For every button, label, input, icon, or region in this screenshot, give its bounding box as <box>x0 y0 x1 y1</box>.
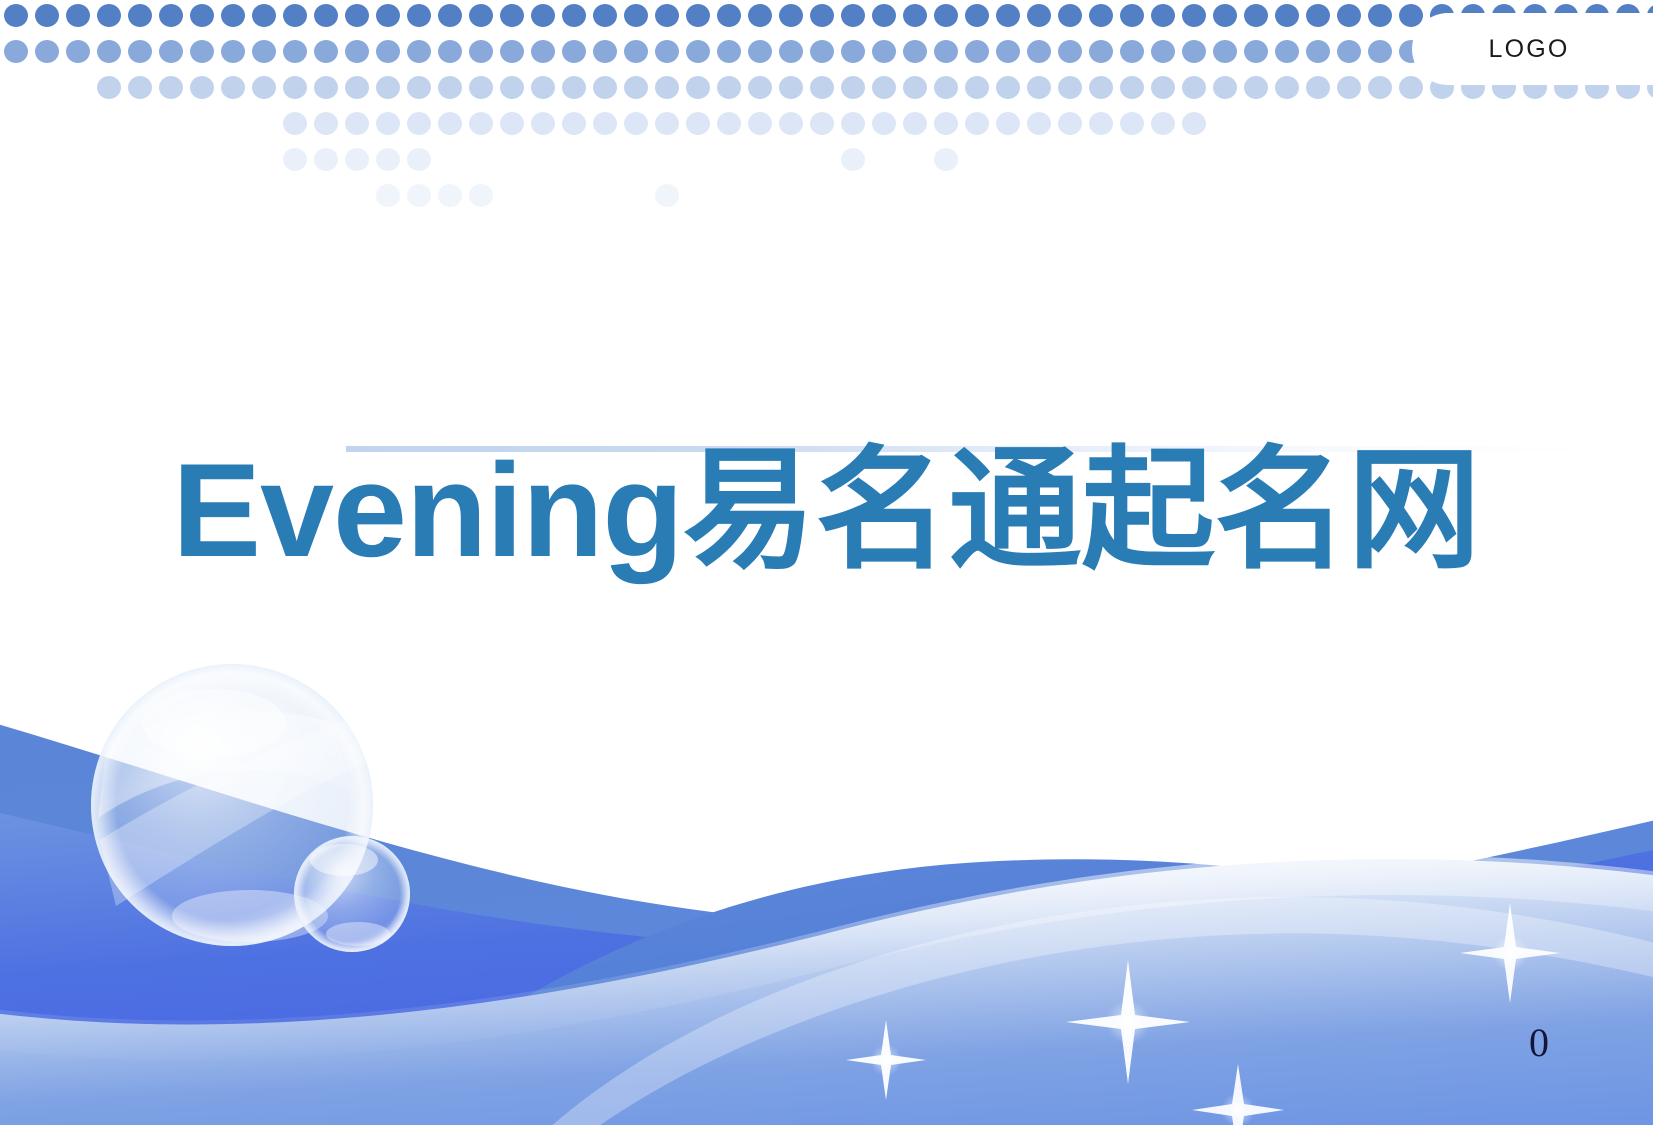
pattern-dot <box>66 40 90 63</box>
pattern-dot <box>779 76 803 99</box>
pattern-dot <box>624 76 648 99</box>
pattern-dot <box>345 40 369 63</box>
pattern-dot <box>1089 76 1113 99</box>
pattern-dot <box>407 148 431 171</box>
wave-deep <box>0 806 1653 1125</box>
pattern-dot <box>407 40 431 63</box>
pattern-dot <box>779 40 803 63</box>
sparkle-stars <box>846 903 1560 1125</box>
pattern-dot <box>407 112 431 135</box>
pattern-dot <box>159 4 183 27</box>
pattern-dot <box>1027 40 1051 63</box>
pattern-dot <box>1337 40 1361 63</box>
sparkle-star <box>1460 903 1560 1003</box>
pattern-dot <box>1244 4 1268 27</box>
pattern-dot <box>562 40 586 63</box>
pattern-dot <box>190 76 214 99</box>
sparkle-star <box>846 1020 926 1100</box>
pattern-dot <box>779 4 803 27</box>
wave-fold-highlight <box>520 897 1653 1125</box>
pattern-dot <box>686 76 710 99</box>
wave-sheen <box>0 855 1653 1061</box>
pattern-dot <box>438 4 462 27</box>
pattern-dot <box>655 76 679 99</box>
pattern-dot <box>407 4 431 27</box>
pattern-dot <box>841 4 865 27</box>
sparkle-star <box>1192 1064 1284 1125</box>
pattern-dot <box>965 76 989 99</box>
pattern-dot <box>996 112 1020 135</box>
pattern-dot <box>903 76 927 99</box>
pattern-dot <box>345 148 369 171</box>
pattern-dot <box>841 112 865 135</box>
pattern-dot <box>562 76 586 99</box>
pattern-dot <box>1120 40 1144 63</box>
pattern-dot <box>1306 76 1330 99</box>
pattern-dot <box>376 76 400 99</box>
pattern-dot <box>748 76 772 99</box>
pattern-dot <box>376 148 400 171</box>
pattern-dot <box>655 184 679 207</box>
pattern-dot <box>593 4 617 27</box>
pattern-dot <box>252 76 276 99</box>
pattern-dot <box>190 40 214 63</box>
wave-foreground-left <box>0 859 1653 1125</box>
pattern-dot <box>1058 40 1082 63</box>
wave-back <box>0 716 1653 1125</box>
pattern-dot <box>469 184 493 207</box>
pattern-dot <box>841 148 865 171</box>
pattern-dot <box>1275 4 1299 27</box>
small-bubble-bottom-glow <box>326 922 390 946</box>
pattern-dot <box>1120 112 1144 135</box>
pattern-dot <box>872 40 896 63</box>
pattern-dot <box>283 148 307 171</box>
pattern-dot <box>686 112 710 135</box>
pattern-dot <box>469 112 493 135</box>
pattern-dot <box>810 76 834 99</box>
small-bubble-top-highlight <box>310 844 378 876</box>
pattern-dot <box>717 4 741 27</box>
pattern-dot <box>748 4 772 27</box>
pattern-dot <box>314 4 338 27</box>
pattern-dot <box>128 76 152 99</box>
large-glass-bubble <box>91 664 373 946</box>
pattern-dot <box>686 4 710 27</box>
large-bubble-diagonal-sheen <box>100 712 372 906</box>
pattern-dot <box>934 76 958 99</box>
pattern-dot <box>965 112 989 135</box>
pattern-dot <box>4 4 28 27</box>
presentation-slide: LOGO Evening易名通起名网 0 <box>0 0 1653 1125</box>
pattern-dot <box>531 40 555 63</box>
page-number: 0 <box>1529 1019 1549 1066</box>
glass-bubbles <box>91 664 410 952</box>
pattern-dot <box>376 4 400 27</box>
pattern-dot <box>159 40 183 63</box>
pattern-dot <box>934 40 958 63</box>
pattern-dot <box>1368 4 1392 27</box>
pattern-dot <box>717 40 741 63</box>
pattern-dot <box>1306 4 1330 27</box>
pattern-dot <box>1213 76 1237 99</box>
pattern-dot <box>624 112 648 135</box>
pattern-dot <box>717 112 741 135</box>
pattern-dot <box>810 4 834 27</box>
pattern-dot <box>1337 76 1361 99</box>
pattern-dot <box>996 76 1020 99</box>
pattern-dot <box>903 4 927 27</box>
pattern-dot <box>1182 40 1206 63</box>
pattern-dot <box>1151 40 1175 63</box>
pattern-dot <box>903 112 927 135</box>
pattern-dot <box>872 112 896 135</box>
pattern-dot <box>500 40 524 63</box>
large-glass-bubble-rim <box>91 664 373 946</box>
pattern-dot <box>376 40 400 63</box>
pattern-dot <box>345 76 369 99</box>
pattern-dot <box>500 112 524 135</box>
small-glass-bubble <box>294 836 410 952</box>
pattern-dot <box>438 112 462 135</box>
pattern-dot <box>1399 76 1423 99</box>
pattern-dot <box>438 76 462 99</box>
pattern-dot <box>221 76 245 99</box>
title-latin: Evening <box>172 437 682 585</box>
pattern-dot <box>314 40 338 63</box>
title-cjk: 易名通起名网 <box>683 437 1481 585</box>
pattern-dot <box>965 40 989 63</box>
pattern-dot <box>1027 112 1051 135</box>
pattern-dot <box>934 148 958 171</box>
pattern-dot <box>1182 4 1206 27</box>
pattern-dot <box>345 4 369 27</box>
pattern-dot <box>934 4 958 27</box>
logo-text: LOGO <box>1488 35 1569 64</box>
pattern-dot <box>1368 76 1392 99</box>
pattern-dot <box>1058 4 1082 27</box>
pattern-dot <box>500 76 524 99</box>
pattern-dot <box>314 76 338 99</box>
pattern-dot <box>376 184 400 207</box>
pattern-dot <box>748 112 772 135</box>
pattern-dot <box>283 40 307 63</box>
pattern-dot <box>438 40 462 63</box>
pattern-dot <box>345 112 369 135</box>
pattern-dot <box>1213 4 1237 27</box>
pattern-dot <box>314 148 338 171</box>
pattern-dot <box>841 76 865 99</box>
pattern-dot <box>903 40 927 63</box>
wave-foreground-right <box>820 876 1653 1125</box>
pattern-dot <box>314 112 338 135</box>
pattern-dot <box>159 76 183 99</box>
pattern-dot <box>996 4 1020 27</box>
pattern-dot <box>1089 4 1113 27</box>
pattern-dot <box>376 112 400 135</box>
large-bubble-band <box>98 711 352 818</box>
wave-crest-right <box>330 859 1653 1125</box>
pattern-dot <box>407 76 431 99</box>
pattern-dot <box>283 4 307 27</box>
logo-placeholder-plate[interactable]: LOGO <box>1412 13 1653 85</box>
pattern-dot <box>1182 112 1206 135</box>
pattern-dot <box>562 112 586 135</box>
pattern-dot <box>1058 76 1082 99</box>
pattern-dot <box>531 4 555 27</box>
pattern-dot <box>686 40 710 63</box>
pattern-dot <box>1213 40 1237 63</box>
large-bubble-top-highlight <box>142 689 286 757</box>
pattern-dot <box>1182 76 1206 99</box>
pattern-dot <box>469 76 493 99</box>
pattern-dot <box>66 4 90 27</box>
pattern-dot <box>1089 40 1113 63</box>
pattern-dot <box>1089 112 1113 135</box>
pattern-dot <box>469 40 493 63</box>
pattern-dot <box>469 4 493 27</box>
pattern-dot <box>748 40 772 63</box>
pattern-dot <box>97 40 121 63</box>
pattern-dot <box>655 4 679 27</box>
pattern-dot <box>624 4 648 27</box>
pattern-dot <box>531 112 555 135</box>
pattern-dot <box>1368 40 1392 63</box>
pattern-dot <box>221 40 245 63</box>
pattern-dot <box>1058 112 1082 135</box>
pattern-dot <box>593 40 617 63</box>
pattern-dot <box>283 76 307 99</box>
pattern-dot <box>252 4 276 27</box>
pattern-dot <box>810 112 834 135</box>
pattern-dot <box>717 76 741 99</box>
pattern-dot <box>35 40 59 63</box>
pattern-dot <box>407 184 431 207</box>
wave-layers <box>0 664 1653 1125</box>
sparkle-star <box>1066 960 1190 1084</box>
pattern-dot <box>1120 4 1144 27</box>
pattern-dot <box>779 112 803 135</box>
pattern-dot <box>1337 4 1361 27</box>
pattern-dot <box>1399 4 1423 27</box>
pattern-dot <box>934 112 958 135</box>
pattern-dot <box>1275 40 1299 63</box>
pattern-dot <box>655 40 679 63</box>
halftone-dot-grid <box>0 0 1653 200</box>
pattern-dot <box>996 40 1020 63</box>
pattern-dot <box>438 184 462 207</box>
pattern-dot <box>283 112 307 135</box>
pattern-dot <box>1275 76 1299 99</box>
pattern-dot <box>35 4 59 27</box>
pattern-dot <box>252 40 276 63</box>
pattern-dot <box>221 4 245 27</box>
pattern-dot <box>1027 4 1051 27</box>
pattern-dot <box>872 76 896 99</box>
small-glass-bubble-rim <box>294 836 410 952</box>
pattern-dot <box>841 40 865 63</box>
page-title: Evening易名通起名网 <box>0 432 1653 592</box>
pattern-dot <box>810 40 834 63</box>
pattern-dot <box>97 76 121 99</box>
pattern-dot <box>500 4 524 27</box>
pattern-dot <box>1151 4 1175 27</box>
large-bubble-bottom-glow <box>172 890 328 942</box>
pattern-dot <box>655 112 679 135</box>
pattern-dot <box>1027 76 1051 99</box>
pattern-dot <box>593 76 617 99</box>
pattern-dot <box>1306 40 1330 63</box>
pattern-dot <box>872 4 896 27</box>
pattern-dot <box>965 4 989 27</box>
pattern-dot <box>1244 40 1268 63</box>
pattern-dot <box>1151 76 1175 99</box>
pattern-dot <box>1151 112 1175 135</box>
pattern-dot <box>97 4 121 27</box>
pattern-dot <box>593 112 617 135</box>
pattern-dot <box>1244 76 1268 99</box>
pattern-dot <box>4 40 28 63</box>
pattern-dot <box>624 40 648 63</box>
pattern-dot <box>531 76 555 99</box>
pattern-dot <box>128 4 152 27</box>
pattern-dot <box>190 4 214 27</box>
pattern-dot <box>1120 76 1144 99</box>
pattern-dot <box>128 40 152 63</box>
pattern-dot <box>562 4 586 27</box>
